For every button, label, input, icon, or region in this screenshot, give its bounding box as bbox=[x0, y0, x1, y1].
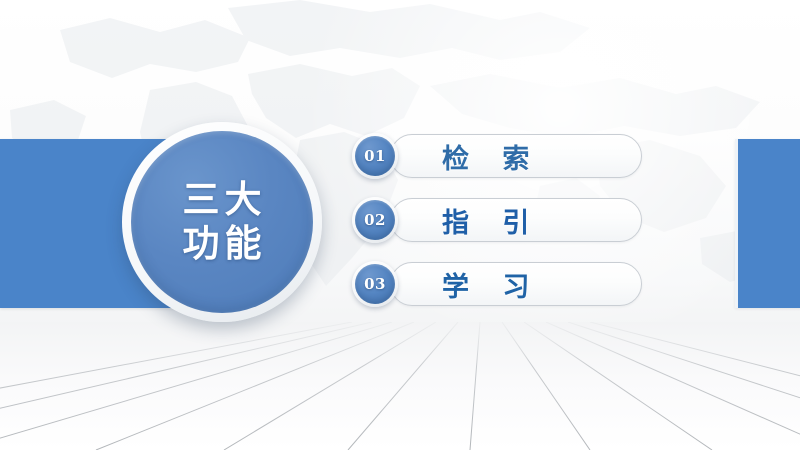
item-badge-3[interactable]: 03 bbox=[352, 261, 398, 307]
list-item[interactable]: 学 习 03 bbox=[352, 261, 644, 307]
circle-title-line-1: 三大 bbox=[178, 178, 267, 222]
perspective-floor-grid bbox=[0, 322, 800, 450]
right-blue-band bbox=[735, 139, 800, 308]
list-item[interactable]: 检 索 01 bbox=[352, 133, 644, 179]
list-item[interactable]: 指 引 02 bbox=[352, 197, 644, 243]
main-title-circle: 三大 功能 bbox=[122, 122, 322, 322]
item-label-1: 检 索 bbox=[430, 133, 541, 179]
badge-number-3: 03 bbox=[355, 264, 395, 304]
item-label-2: 指 引 bbox=[430, 197, 541, 243]
item-badge-1[interactable]: 01 bbox=[352, 133, 398, 179]
item-badge-2[interactable]: 02 bbox=[352, 197, 398, 243]
badge-number-1: 01 bbox=[355, 136, 395, 176]
circle-title-line-2: 功能 bbox=[178, 222, 267, 266]
circle-inner-fill: 三大 功能 bbox=[131, 131, 313, 313]
slide-canvas: 三大 功能 检 索 01 指 引 02 学 习 03 bbox=[0, 0, 800, 450]
item-label-3: 学 习 bbox=[430, 261, 541, 307]
badge-number-2: 02 bbox=[355, 200, 395, 240]
